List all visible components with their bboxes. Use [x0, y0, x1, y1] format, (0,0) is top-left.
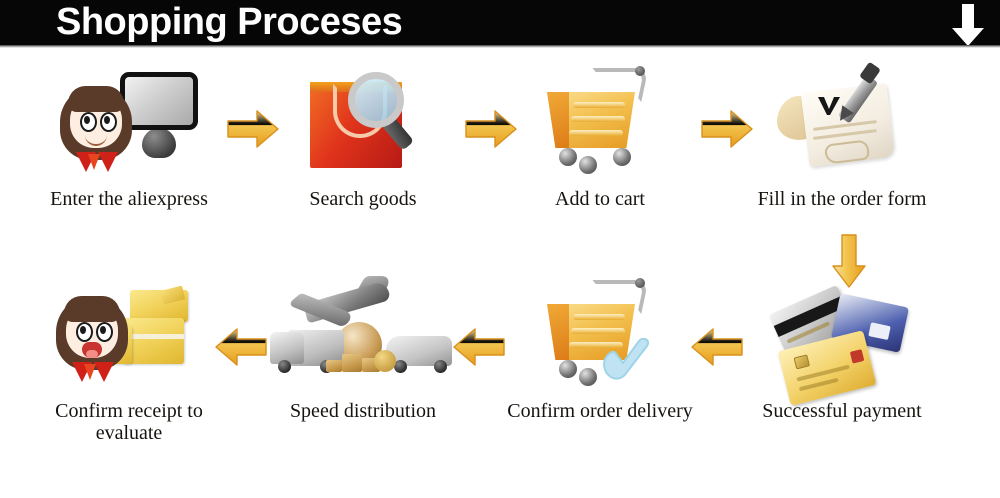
page-title: Shopping Proceses — [56, 3, 402, 41]
shopping-cart-icon — [485, 62, 715, 182]
card-hologram — [850, 349, 865, 364]
cart-check-icon — [485, 274, 715, 394]
process-flow: Enter the aliexpress Search goods — [0, 48, 1000, 498]
step-caption: Confirm order delivery — [485, 400, 715, 422]
van-tire-rear — [434, 360, 447, 373]
girl-collar-right — [94, 362, 114, 382]
blue-check-icon — [599, 338, 655, 382]
truck-cab — [270, 332, 304, 364]
step-caption: Successful payment — [727, 400, 957, 422]
step-fill-in-the-order-form[interactable]: Fill in the order form — [727, 62, 957, 210]
arrow-down-icon — [950, 4, 986, 45]
parcel-1 — [342, 354, 362, 372]
cart-bar-3 — [569, 130, 623, 136]
cart-front-panel — [547, 92, 569, 148]
monitor-base — [142, 128, 176, 158]
card-chip — [794, 354, 810, 369]
cart-wheel-right — [613, 148, 631, 166]
step-enter-the-aliexpress[interactable]: Enter the aliexpress — [14, 62, 244, 210]
cart-wheel-mid — [579, 156, 597, 174]
credit-cards-icon — [727, 274, 957, 394]
cart-wheel-left — [559, 148, 577, 166]
girl-tongue — [86, 350, 98, 358]
header-bar: Shopping Proceses — [0, 0, 1000, 45]
girl-fringe — [68, 86, 124, 112]
step-speed-distribution[interactable]: Speed distribution — [248, 274, 478, 422]
step-successful-payment[interactable]: Successful payment — [727, 274, 957, 422]
card-name-line — [799, 378, 839, 392]
person-at-computer-icon — [14, 62, 244, 182]
magnifier-lens — [348, 72, 404, 128]
person-with-parcels-icon — [14, 274, 244, 394]
form-signature — [824, 139, 870, 164]
cart-bar-2 — [571, 328, 625, 334]
step-confirm-receipt-to-evaluate[interactable]: Confirm receipt to evaluate — [14, 274, 244, 445]
order-form-pen-icon — [727, 62, 957, 182]
cart-front-panel — [547, 304, 569, 360]
cart-bar-2 — [571, 116, 625, 122]
girl-pupil-right — [100, 326, 106, 334]
cart-bar-1 — [573, 314, 625, 320]
clock-icon — [374, 350, 396, 372]
parcel-3 — [326, 360, 342, 372]
girl-fringe — [64, 296, 120, 322]
cart-bar-1 — [573, 102, 625, 108]
cart-wheel-mid — [579, 368, 597, 386]
step-confirm-order-delivery[interactable]: Confirm order delivery — [485, 274, 715, 422]
girl-collar-right — [98, 152, 118, 172]
cart-handle-knob — [635, 66, 645, 76]
step-caption: Add to cart — [485, 188, 715, 210]
step-caption: Speed distribution — [248, 400, 478, 422]
step-caption: Search goods — [248, 188, 478, 210]
card-logo-patch — [868, 322, 890, 340]
cart-handle-knob — [635, 278, 645, 288]
step-caption: Fill in the order form — [727, 188, 957, 210]
girl-pupil-left — [80, 326, 86, 334]
girl-pupil-right — [104, 116, 110, 124]
shopping-bag-search-icon — [248, 62, 478, 182]
girl-pupil-left — [84, 116, 90, 124]
truck-tire-front — [278, 360, 291, 373]
logistics-plane-truck-icon — [248, 274, 478, 394]
step-search-goods[interactable]: Search goods — [248, 62, 478, 210]
step-caption: Enter the aliexpress — [14, 188, 244, 210]
step-add-to-cart[interactable]: Add to cart — [485, 62, 715, 210]
step-caption: Confirm receipt to evaluate — [14, 400, 244, 445]
cart-wheel-left — [559, 360, 577, 378]
